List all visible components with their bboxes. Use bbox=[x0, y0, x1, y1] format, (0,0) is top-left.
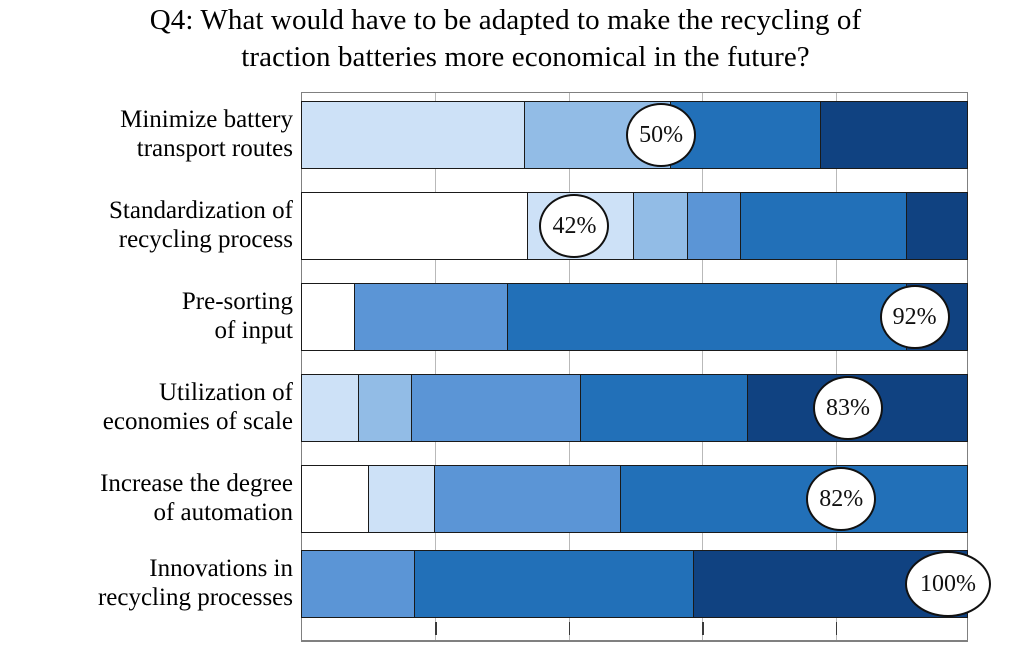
bar-segment[interactable] bbox=[508, 284, 907, 350]
chart-title-line-2: traction batteries more economical in th… bbox=[0, 39, 1011, 76]
row-label-line: Increase the degree bbox=[6, 469, 293, 498]
value-callout: 100% bbox=[905, 551, 991, 617]
bar-segment[interactable] bbox=[355, 284, 508, 350]
x-axis-tick-20 bbox=[435, 622, 437, 635]
value-callout: 82% bbox=[806, 467, 876, 531]
bar-segment[interactable] bbox=[907, 193, 967, 259]
bar-segment[interactable] bbox=[302, 551, 415, 617]
value-callout: 50% bbox=[626, 103, 696, 167]
row-label-line: economies of scale bbox=[6, 407, 293, 436]
chart-title-line-1: Q4: What would have to be adapted to mak… bbox=[0, 2, 1011, 39]
bar-segment[interactable] bbox=[369, 466, 436, 532]
row-label-line: of input bbox=[6, 316, 293, 345]
stacked-bar[interactable] bbox=[301, 283, 968, 351]
row-label: Increase the degreeof automation bbox=[6, 469, 301, 527]
row-label: Minimize batterytransport routes bbox=[6, 105, 301, 163]
bar-row bbox=[301, 283, 968, 351]
bar-segment[interactable] bbox=[302, 284, 355, 350]
row-label-line: recycling processes bbox=[6, 583, 293, 612]
bar-segment[interactable] bbox=[621, 466, 967, 532]
row-label: Utilization ofeconomies of scale bbox=[6, 378, 301, 436]
row-label-line: Pre-sorting bbox=[6, 287, 293, 316]
bar-segment[interactable] bbox=[302, 375, 359, 441]
chart-title: Q4: What would have to be adapted to mak… bbox=[0, 2, 1011, 76]
stacked-bar[interactable] bbox=[301, 192, 968, 260]
row-label-line: Utilization of bbox=[6, 378, 293, 407]
x-axis-tick-80 bbox=[836, 622, 838, 635]
x-axis-tick-60 bbox=[702, 622, 704, 635]
bar-segment[interactable] bbox=[302, 466, 369, 532]
bar-segment[interactable] bbox=[581, 375, 747, 441]
bar-rows-container bbox=[301, 92, 968, 642]
bar-segment[interactable] bbox=[302, 193, 528, 259]
stacked-bar[interactable] bbox=[301, 550, 968, 618]
value-callout: 42% bbox=[539, 194, 609, 258]
bar-segment[interactable] bbox=[634, 193, 687, 259]
bar-row bbox=[301, 550, 968, 618]
row-label: Pre-sortingof input bbox=[6, 287, 301, 345]
bar-segment[interactable] bbox=[688, 193, 741, 259]
row-label-line: Minimize battery bbox=[6, 105, 293, 134]
bar-segment[interactable] bbox=[415, 551, 694, 617]
chart-root: Q4: What would have to be adapted to mak… bbox=[0, 0, 1011, 652]
value-callout: 83% bbox=[813, 376, 883, 440]
row-label-line: Innovations in bbox=[6, 554, 293, 583]
row-label: Standardization ofrecycling process bbox=[6, 196, 301, 254]
row-label-line: recycling process bbox=[6, 225, 293, 254]
bar-segment[interactable] bbox=[359, 375, 412, 441]
x-axis-tick-40 bbox=[569, 622, 571, 635]
row-label: Innovations inrecycling processes bbox=[6, 554, 301, 612]
bar-segment[interactable] bbox=[821, 102, 967, 168]
bar-segment[interactable] bbox=[302, 102, 525, 168]
bar-segment[interactable] bbox=[435, 466, 621, 532]
row-label-line: Standardization of bbox=[6, 196, 293, 225]
x-axis bbox=[301, 622, 968, 642]
bar-segment[interactable] bbox=[412, 375, 582, 441]
bar-segment[interactable] bbox=[741, 193, 907, 259]
bar-row bbox=[301, 192, 968, 260]
value-callout: 92% bbox=[880, 285, 950, 349]
row-label-line: transport routes bbox=[6, 134, 293, 163]
row-label-line: of automation bbox=[6, 498, 293, 527]
